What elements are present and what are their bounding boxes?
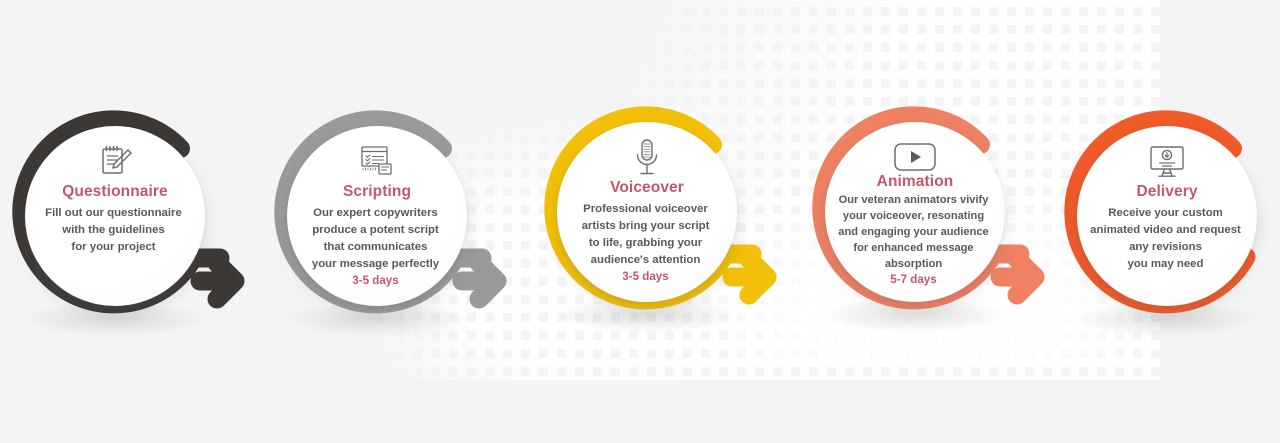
step-description: Receive your custom animated video and r… bbox=[1066, 205, 1266, 273]
step-duration: 3-5 days bbox=[283, 273, 469, 290]
desc-line: absorption bbox=[816, 256, 1012, 272]
step-title: Voiceover bbox=[610, 179, 684, 196]
play-button-icon bbox=[893, 142, 937, 172]
step-duration: 3-5 days bbox=[553, 269, 739, 286]
desc-line: for enhanced message bbox=[816, 240, 1012, 256]
step-title: Animation bbox=[877, 173, 954, 190]
desc-line: with the guidelines bbox=[21, 222, 207, 239]
desc-line: artists bring your script bbox=[553, 218, 739, 235]
step-title: Delivery bbox=[1136, 183, 1197, 200]
step-questionnaire[interactable]: Questionnaire Fill out our questionnaire… bbox=[9, 110, 221, 322]
desc-line: for your project bbox=[21, 239, 207, 256]
desc-line: your message perfectly bbox=[283, 256, 469, 273]
desc-line: animated video and request bbox=[1066, 222, 1266, 239]
monitor-download-icon bbox=[1146, 142, 1188, 182]
step-description: Professional voiceover artists bring you… bbox=[553, 201, 739, 285]
step-title: Questionnaire bbox=[62, 183, 168, 200]
step-animation[interactable]: Animation Our veteran animators vivify y… bbox=[809, 106, 1021, 318]
desc-line: Our veteran animators vivify bbox=[816, 192, 1012, 208]
desc-line: Our expert copywriters bbox=[283, 205, 469, 222]
step-card-voiceover: Voiceover Professional voiceover artists… bbox=[557, 122, 737, 302]
step-voiceover[interactable]: Voiceover Professional voiceover artists… bbox=[541, 106, 753, 318]
step-card-questionnaire: Questionnaire Fill out our questionnaire… bbox=[25, 126, 205, 306]
step-scripting[interactable]: Scripting Our expert copywriters produce… bbox=[271, 110, 483, 322]
step-card-scripting: Scripting Our expert copywriters produce… bbox=[287, 126, 467, 306]
clipboard-pencil-icon bbox=[95, 142, 135, 182]
desc-line: Professional voiceover bbox=[553, 201, 739, 218]
step-title: Scripting bbox=[343, 183, 411, 200]
desc-line: Receive your custom bbox=[1066, 205, 1266, 222]
desc-line: you may need bbox=[1066, 256, 1266, 273]
process-diagram: Questionnaire Fill out our questionnaire… bbox=[0, 0, 1280, 443]
desc-line: Fill out our questionnaire bbox=[21, 205, 207, 222]
desc-line: any revisions bbox=[1066, 239, 1266, 256]
step-card-delivery: Delivery Receive your custom animated vi… bbox=[1077, 126, 1257, 306]
script-document-icon bbox=[357, 142, 397, 182]
step-description: Our veteran animators vivify your voiceo… bbox=[816, 192, 1012, 289]
step-card-animation: Animation Our veteran animators vivify y… bbox=[825, 122, 1005, 302]
desc-line: produce a potent script bbox=[283, 222, 469, 239]
step-description: Our expert copywriters produce a potent … bbox=[283, 205, 469, 289]
desc-line: audience's attention bbox=[553, 252, 739, 269]
desc-line: that communicates bbox=[283, 239, 469, 256]
desc-line: your voiceover, resonating bbox=[816, 208, 1012, 224]
microphone-icon bbox=[632, 138, 662, 178]
step-delivery[interactable]: Delivery Receive your custom animated vi… bbox=[1061, 110, 1273, 322]
desc-line: to life, grabbing your bbox=[553, 235, 739, 252]
desc-line: and engaging your audience bbox=[816, 224, 1012, 240]
step-duration: 5-7 days bbox=[816, 272, 1012, 289]
step-description: Fill out our questionnaire with the guid… bbox=[21, 205, 207, 256]
